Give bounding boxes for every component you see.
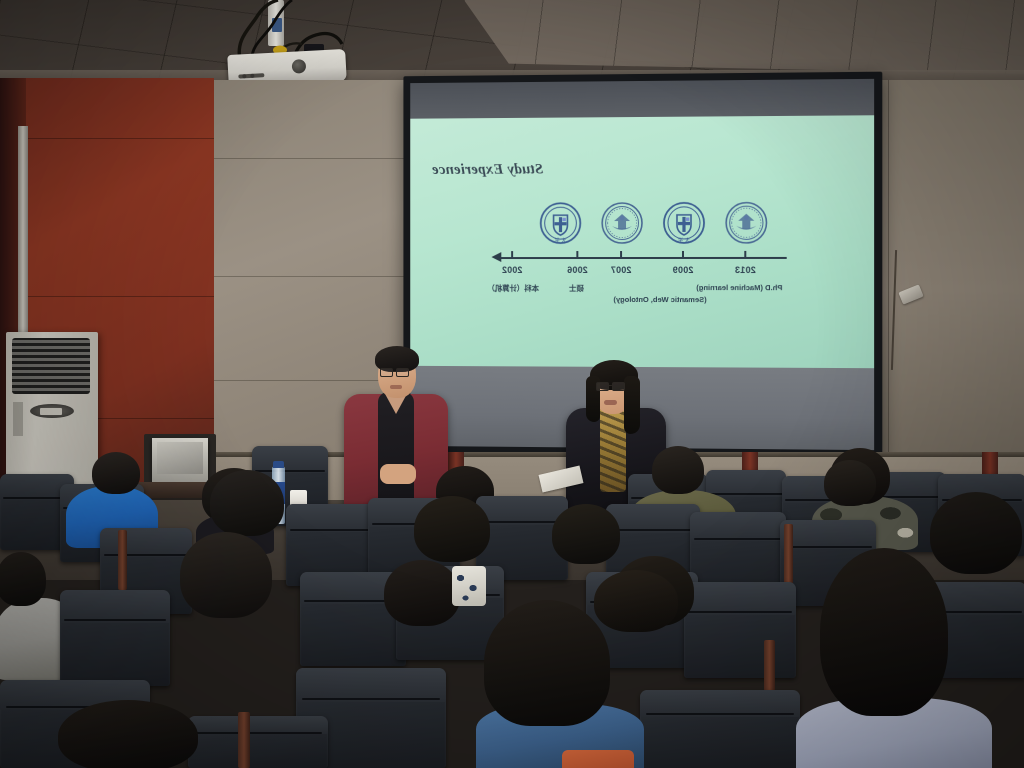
slide-content-mirrored: Study Experience xyxy=(410,115,874,368)
attendee-lavender-hoodie xyxy=(796,548,986,768)
university-seal-2-icon: 大 学 xyxy=(662,201,706,245)
attendee-lavender-hoodie-hair xyxy=(820,548,948,716)
attendee-row-c-dark-coat xyxy=(168,532,280,662)
attendee-row-b-2-hair xyxy=(414,496,490,562)
presenter-left-mouth xyxy=(390,385,402,389)
presenter-right-glasses-icon xyxy=(596,382,630,391)
seat-row-d-3[interactable] xyxy=(640,690,800,768)
ceiling-right-tile-lines xyxy=(464,0,1024,74)
presenter-left-glasses-icon xyxy=(380,368,414,377)
attendee-blue-jacket-hair xyxy=(92,452,140,494)
seat-armrest-wood-2 xyxy=(118,530,127,590)
timeline-year-2013: 2013 xyxy=(735,265,756,275)
timeline-tick-2006 xyxy=(576,251,578,259)
air-conditioner-grille xyxy=(12,338,90,394)
seat-armrest-wood-1 xyxy=(784,524,793,584)
attendee-denim-jacket-orange-top xyxy=(562,750,634,768)
timeline-arrow-icon xyxy=(491,252,501,262)
timeline-note-master-topic: (Semantic Web, Ontology) xyxy=(613,295,706,304)
attendee-front-right-small-hair xyxy=(594,570,678,632)
timeline-note-master: 硕士 xyxy=(569,283,584,294)
presenter-right-mouth xyxy=(604,400,617,405)
attendee-far-3 xyxy=(824,460,876,514)
university-seal-3-icon xyxy=(600,201,644,245)
air-conditioner-side-label xyxy=(13,402,23,436)
timeline-year-2009: 2009 xyxy=(673,265,694,275)
timeline-tick-2009 xyxy=(682,251,684,259)
attendee-front-right-small xyxy=(594,570,682,646)
attendee-far-3-hair xyxy=(824,460,876,506)
attendee-row-b-3-hair xyxy=(552,504,620,564)
timeline-year-2007: 2007 xyxy=(611,265,632,275)
attendee-row-c-dark-coat-hair xyxy=(180,532,272,618)
university-seal-4-icon: 大 学 xyxy=(539,201,583,245)
attendee-denim-jacket-hair xyxy=(484,600,610,726)
slide-university-seals: 大 学 xyxy=(410,200,874,253)
timeline-tick-2007 xyxy=(620,251,622,259)
presenter-left-hands xyxy=(380,464,416,484)
attendee-front-left-near xyxy=(58,700,200,768)
timeline-year-2002: 2002 xyxy=(502,265,523,275)
wall-seam-vertical-right xyxy=(888,80,889,500)
attendee-row-b-1-hair xyxy=(210,470,284,536)
projector-mount-label xyxy=(272,18,282,32)
presenter-right-scarf-pattern xyxy=(600,406,626,492)
attendee-olive-jacket-hair xyxy=(652,446,704,494)
seat-row-c-1[interactable] xyxy=(60,590,170,686)
seat-row-c-5[interactable] xyxy=(684,582,796,678)
timeline-note-bachelor: 本科（计算机） xyxy=(487,283,539,294)
projector-lens-icon xyxy=(292,59,307,74)
screen-top-band xyxy=(410,79,874,119)
water-bottle-cap xyxy=(273,461,284,468)
attendee-row-c-2-hair xyxy=(384,560,460,626)
attendee-gray-sweater-hair xyxy=(0,552,46,606)
timeline-tick-2002 xyxy=(511,251,513,259)
seat-armrest-wood-4 xyxy=(238,712,250,768)
attendee-front-left-near-hair xyxy=(58,700,198,768)
svg-text:大 学: 大 学 xyxy=(678,237,690,244)
lecture-hall-photo: Study Experience xyxy=(0,0,1024,768)
timeline-note-phd: Ph.D (Machine learning) xyxy=(696,283,782,292)
timeline-axis xyxy=(495,257,786,259)
air-conditioner-badge xyxy=(40,408,62,415)
slide-title: Study Experience xyxy=(432,162,544,179)
timeline-year-2006: 2006 xyxy=(567,265,588,275)
timeline-tick-2013 xyxy=(744,251,746,259)
university-seal-1-icon xyxy=(724,201,768,245)
svg-text:大 学: 大 学 xyxy=(555,237,566,244)
seat-row-d-4[interactable] xyxy=(188,716,328,768)
